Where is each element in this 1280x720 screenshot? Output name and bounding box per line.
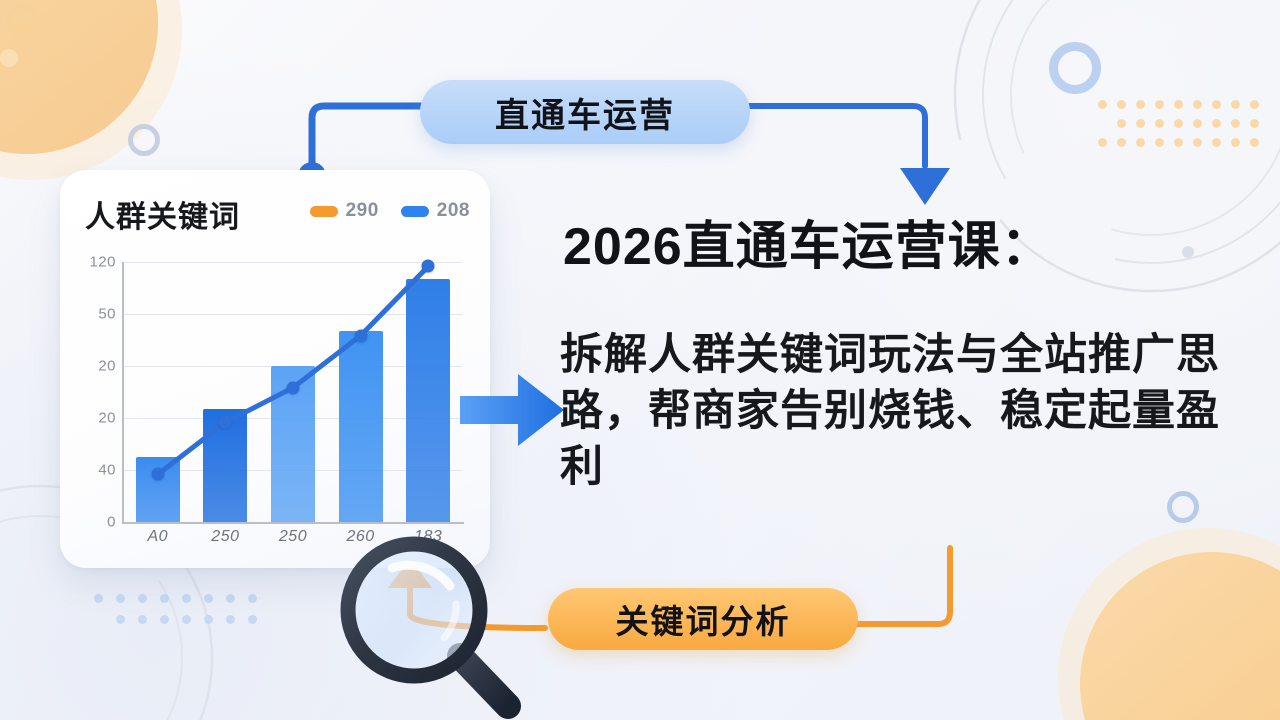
legend-swatch-line	[310, 206, 338, 217]
chart-legend: 290 208	[310, 200, 470, 222]
x-tick-label: 250	[279, 528, 307, 546]
legend-item-290: 290	[310, 200, 379, 222]
legend-label-208: 208	[437, 200, 470, 222]
arrow-right-icon	[460, 362, 570, 458]
connector-orange-right	[856, 548, 950, 624]
y-tick-label: 120	[89, 254, 116, 271]
chart-line-point	[151, 468, 164, 481]
poster-canvas: 人群关键词 290 208 120502020400 A025025026018…	[0, 0, 1280, 720]
legend-label-290: 290	[346, 200, 379, 222]
y-tick-label: 40	[98, 462, 116, 479]
chart-x-axis	[122, 522, 464, 524]
pill-top-label[interactable]: 直通车运营	[420, 80, 750, 144]
chart-line-series	[124, 262, 462, 522]
chart-line-point	[354, 329, 367, 342]
chart-card-title: 人群关键词	[85, 192, 240, 236]
chart-line-point	[422, 260, 435, 273]
x-tick-label: 260	[346, 528, 374, 546]
legend-swatch-bar	[401, 206, 429, 217]
y-tick-label: 50	[98, 306, 116, 323]
pill-bottom-label[interactable]: 关键词分析	[548, 588, 858, 650]
chart-card: 人群关键词 290 208 120502020400 A025025026018…	[60, 170, 490, 568]
connector-blue-right	[748, 106, 925, 166]
x-tick-label: A0	[148, 528, 169, 546]
y-tick-label: 20	[98, 410, 116, 427]
chart-line-point	[287, 381, 300, 394]
x-tick-label: 250	[211, 528, 239, 546]
x-tick-label: 183	[414, 528, 442, 546]
legend-item-208: 208	[401, 200, 470, 222]
arrow-down-icon	[900, 168, 950, 205]
chart-line-point	[219, 416, 232, 429]
page-title: 2026直通车运营课：	[563, 218, 1223, 276]
page-subtitle: 拆解人群关键词玩法与全站推广思路，帮商家告别烧钱、稳定起量盈利	[560, 328, 1228, 496]
connector-orange-left	[410, 588, 545, 628]
y-tick-label: 0	[107, 514, 116, 531]
connector-blue-left	[312, 106, 424, 172]
chart-plot-area: 120502020400 A0250250260183	[78, 254, 472, 534]
y-tick-label: 20	[98, 358, 116, 375]
